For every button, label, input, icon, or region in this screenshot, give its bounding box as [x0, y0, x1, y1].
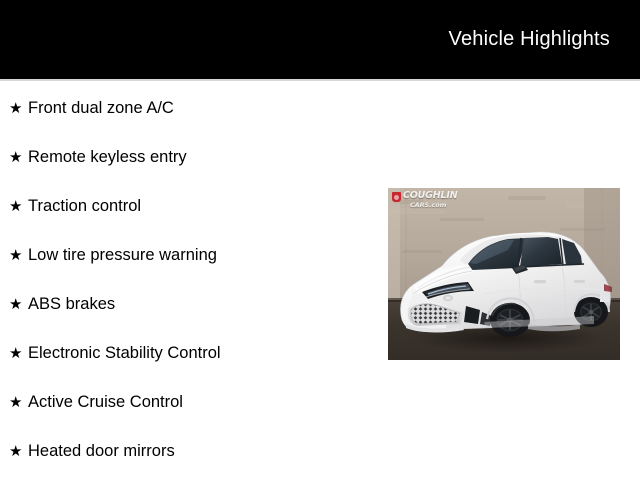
star-bullet-icon: ★	[9, 248, 28, 263]
highlight-label: Active Cruise Control	[28, 393, 183, 411]
highlight-label: Front dual zone A/C	[28, 99, 174, 117]
page-header: Vehicle Highlights	[0, 0, 640, 79]
vehicle-highlights-list: ★ Front dual zone A/C ★ Remote keyless e…	[0, 84, 380, 476]
highlight-label: Heated door mirrors	[28, 442, 175, 460]
highlight-label: ABS brakes	[28, 295, 115, 313]
list-item: ★ Heated door mirrors	[0, 427, 380, 476]
highlight-label: Remote keyless entry	[28, 148, 187, 166]
list-item: ★ Electronic Stability Control	[0, 329, 380, 378]
vehicle-highlights-page: Vehicle Highlights ★ Front dual zone A/C…	[0, 0, 640, 480]
list-item: ★ Low tire pressure warning	[0, 231, 380, 280]
star-bullet-icon: ★	[9, 101, 28, 116]
page-title: Vehicle Highlights	[449, 28, 610, 51]
list-item: ★ ABS brakes	[0, 280, 380, 329]
star-bullet-icon: ★	[9, 297, 28, 312]
highlight-label: Electronic Stability Control	[28, 344, 221, 362]
star-bullet-icon: ★	[9, 346, 28, 361]
list-item: ★ Traction control	[0, 182, 380, 231]
header-divider	[0, 79, 640, 81]
vehicle-photo: COUGHLIN CARS.com	[388, 188, 620, 360]
star-bullet-icon: ★	[9, 395, 28, 410]
vehicle-photo-image	[388, 188, 620, 360]
list-item: ★ Front dual zone A/C	[0, 84, 380, 133]
star-bullet-icon: ★	[9, 444, 28, 459]
star-bullet-icon: ★	[9, 150, 28, 165]
highlight-label: Traction control	[28, 197, 141, 215]
list-item: ★ Remote keyless entry	[0, 133, 380, 182]
highlight-label: Low tire pressure warning	[28, 246, 217, 264]
star-bullet-icon: ★	[9, 199, 28, 214]
list-item: ★ Active Cruise Control	[0, 378, 380, 427]
